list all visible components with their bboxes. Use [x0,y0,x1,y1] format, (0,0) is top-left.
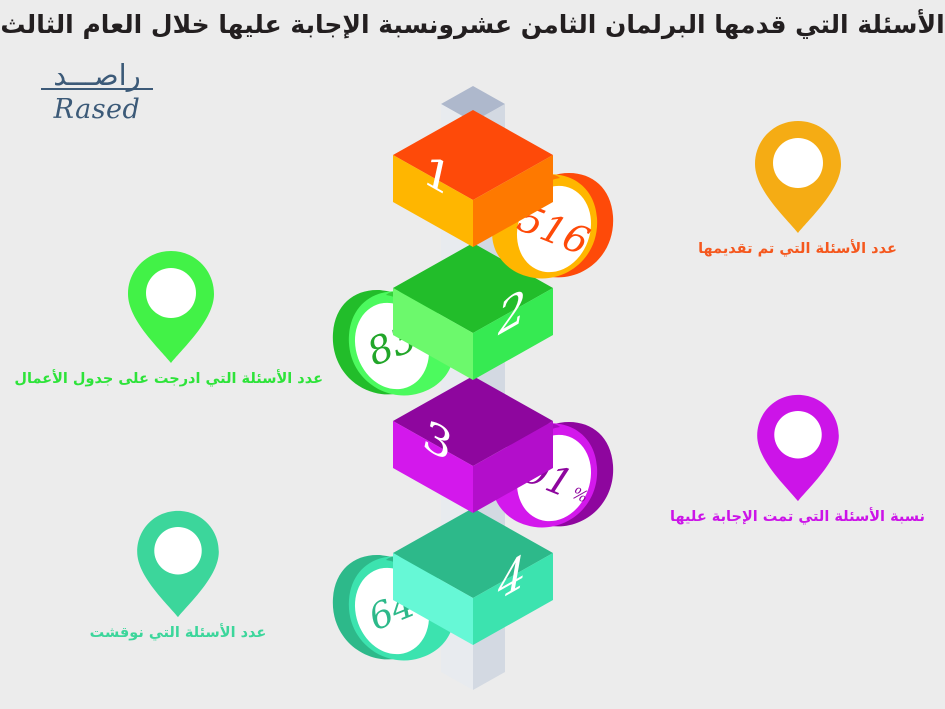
infographic-canvas: الأسئلة التي قدمها البرلمان الثامن عشرون… [0,0,945,709]
marker-label-3: نسبة الأسئلة التي تمت الإجابة عليها [665,509,930,525]
marker-label-1: عدد الأسئلة التي تم تقديمها [660,241,935,257]
location-pin-icon-4 [134,508,222,620]
location-pin-icon-1 [752,118,844,236]
location-pin-icon-3 [754,392,842,504]
location-pin-icon-2 [125,248,217,366]
cube-step-4[interactable]: 64 4 [333,508,553,665]
marker-label-2: عدد الأسئلة التي ادرجت على جدول الأعمال [18,371,323,387]
marker-step-4[interactable]: عدد الأسئلة التي نوقشت [62,508,294,641]
marker-step-1[interactable]: عدد الأسئلة التي تم تقديمها [660,118,935,257]
marker-label-4: عدد الأسئلة التي نوقشت [62,625,294,641]
cube-step-3[interactable]: 91 % 3 [393,376,613,532]
cube-step-1[interactable]: 516 1 [393,110,613,283]
marker-step-3[interactable]: نسبة الأسئلة التي تمت الإجابة عليها [665,392,930,525]
marker-step-2[interactable]: عدد الأسئلة التي ادرجت على جدول الأعمال [18,248,323,387]
